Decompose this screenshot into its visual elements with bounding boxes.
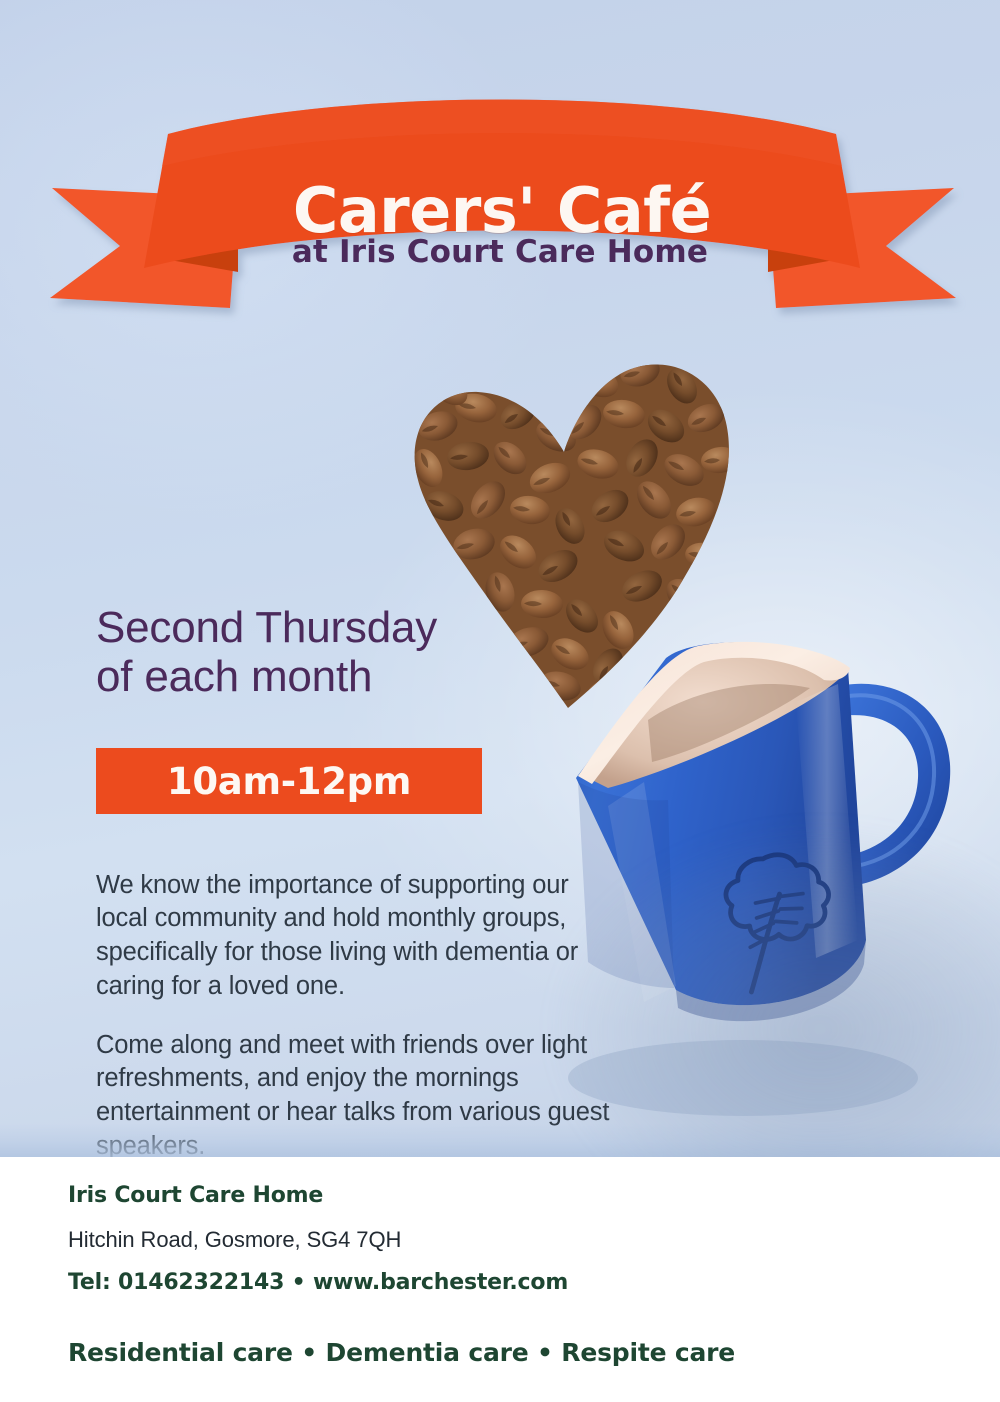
headline-line-1: Second Thursday [96, 603, 566, 652]
headline-line-2: of each month [96, 652, 566, 701]
poster: Carers' Café at Iris Court Care Home Sec… [0, 0, 1000, 1402]
hero-photo-area: Carers' Café at Iris Court Care Home Sec… [0, 0, 1000, 1157]
footer-home-name: Iris Court Care Home [68, 1183, 323, 1208]
banner-subtitle: at Iris Court Care Home [0, 234, 1000, 270]
event-headline: Second Thursday of each month [96, 603, 566, 702]
body-paragraph-1: We know the importance of supporting our… [96, 869, 606, 1005]
footer-address: Hitchin Road, Gosmore, SG4 7QH [68, 1227, 401, 1253]
footer: Iris Court Care Home Hitchin Road, Gosmo… [0, 1157, 1000, 1402]
time-badge: 10am-12pm [96, 748, 482, 814]
time-badge-label: 10am-12pm [96, 760, 482, 803]
ribbon-banner: Carers' Café [42, 82, 962, 312]
banner-title: Carers' Café [42, 180, 962, 242]
body-paragraph-2: Come along and meet with friends over li… [96, 1029, 678, 1158]
footer-contact[interactable]: Tel: 01462322143 • www.barchester.com [68, 1270, 568, 1295]
footer-services: Residential care • Dementia care • Respi… [68, 1338, 735, 1367]
